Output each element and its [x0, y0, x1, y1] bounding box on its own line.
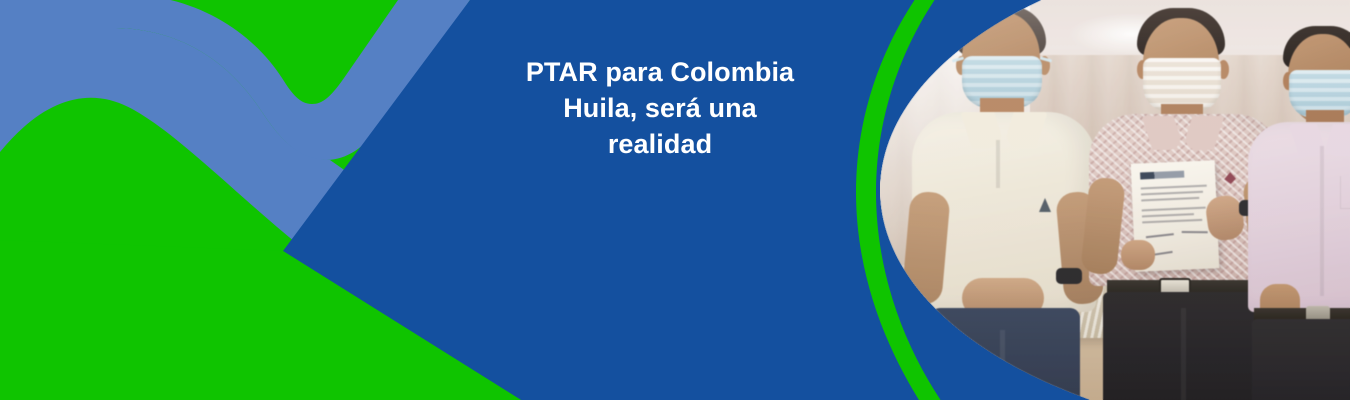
trousers [1103, 292, 1267, 400]
document-signature [1182, 231, 1208, 233]
trousers [1252, 319, 1350, 400]
person-right [1248, 26, 1350, 400]
shirt-pocket [1340, 176, 1350, 209]
document-text-line [1141, 185, 1207, 190]
photo-clip [0, 0, 1350, 400]
shirt-placket [1320, 146, 1324, 296]
document-text-line [1142, 219, 1202, 224]
person-left [904, 12, 1104, 400]
document-text-line [1141, 191, 1203, 196]
shirt-placket [996, 140, 1000, 188]
document-text-line [1142, 207, 1206, 212]
hand [1121, 240, 1155, 270]
banner: PTAR para Colombia Huila, será una reali… [0, 0, 1350, 400]
document-signature [1146, 233, 1174, 238]
group-photo [880, 0, 1350, 400]
jeans [930, 308, 1080, 400]
wrist-watch [1056, 268, 1082, 284]
document-text-line [1141, 197, 1199, 202]
document-header-band [1140, 171, 1184, 180]
document-text-line [1142, 213, 1194, 217]
